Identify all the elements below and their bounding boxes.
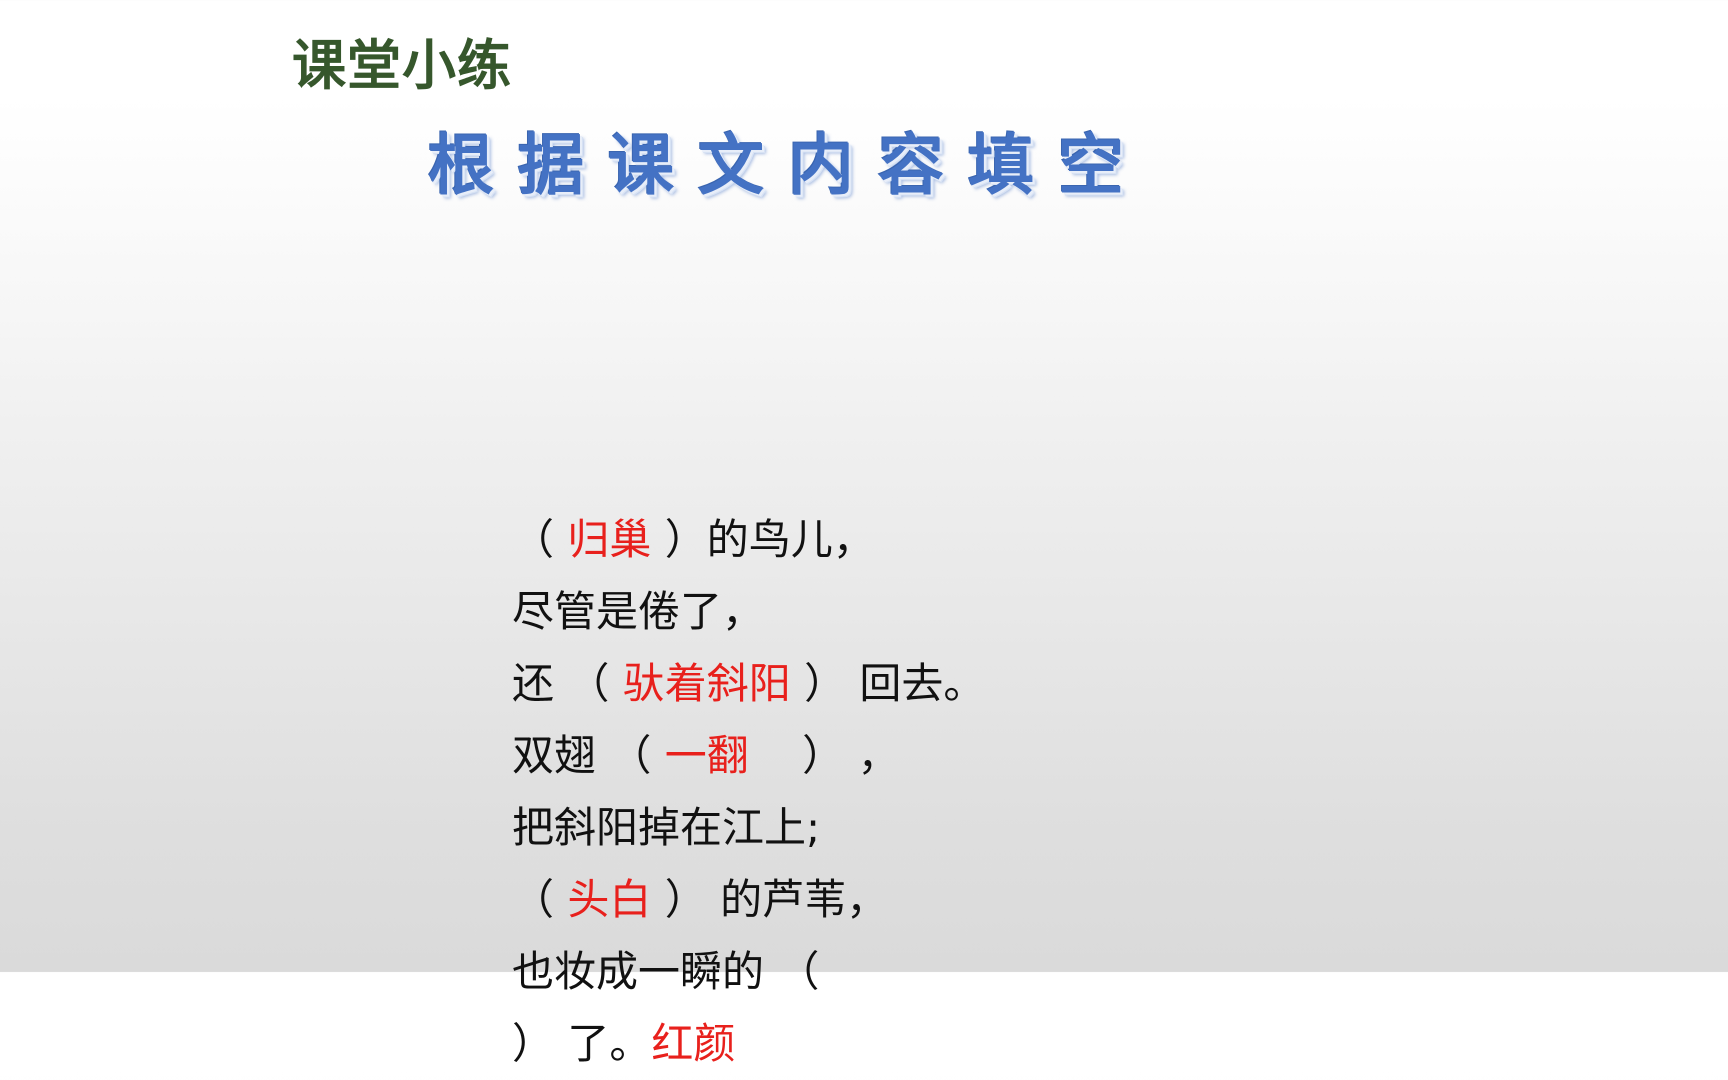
text-line: （ 归巢 ）的鸟儿， [512, 504, 985, 576]
line-text: ） ， [749, 731, 900, 780]
text-line: 双翅 （ 一翻 ） ， [512, 720, 985, 792]
fill-in-blank-text: （ 归巢 ）的鸟儿，尽管是倦了，还 （ 驮着斜阳 ） 回去。双翅 （ 一翻 ） … [512, 288, 985, 1080]
answer-text: 驮着斜阳 [623, 659, 791, 708]
line-text: 还 （ [512, 659, 623, 708]
line-text: （ [512, 515, 567, 564]
text-line: 也妆成一瞬的 （ [512, 936, 985, 1008]
line-text: ） 的芦苇， [651, 875, 888, 924]
slide-canvas: 课堂小练 根据课文内容填空 （ 归巢 ）的鸟儿，尽管是倦了，还 （ 驮着斜阳 ）… [0, 0, 1728, 972]
section-title: 课堂小练 [292, 38, 512, 95]
answer-text: 红颜 [651, 1019, 735, 1068]
line-text: ）的鸟儿， [651, 515, 874, 564]
text-line: 还 （ 驮着斜阳 ） 回去。 [512, 648, 985, 720]
text-line: （ 头白 ） 的芦苇， [512, 864, 985, 936]
answer-text: 归巢 [567, 515, 651, 564]
line-text: 把斜阳掉在江上; [512, 803, 820, 852]
line-text: （ [512, 875, 567, 924]
answer-text: 一翻 [665, 731, 749, 780]
text-line: ） 了。红颜 [512, 1008, 985, 1080]
line-text: ） 了。 [512, 1019, 651, 1068]
answer-text: 头白 [567, 875, 651, 924]
text-line: 尽管是倦了， [512, 576, 985, 648]
line-text: 双翅 （ [512, 731, 665, 780]
line-text: 尽管是倦了， [512, 587, 764, 636]
page-title: 根据课文内容填空 [428, 128, 1148, 204]
line-text: ） 回去。 [791, 659, 986, 708]
text-line: 把斜阳掉在江上; [512, 792, 985, 864]
